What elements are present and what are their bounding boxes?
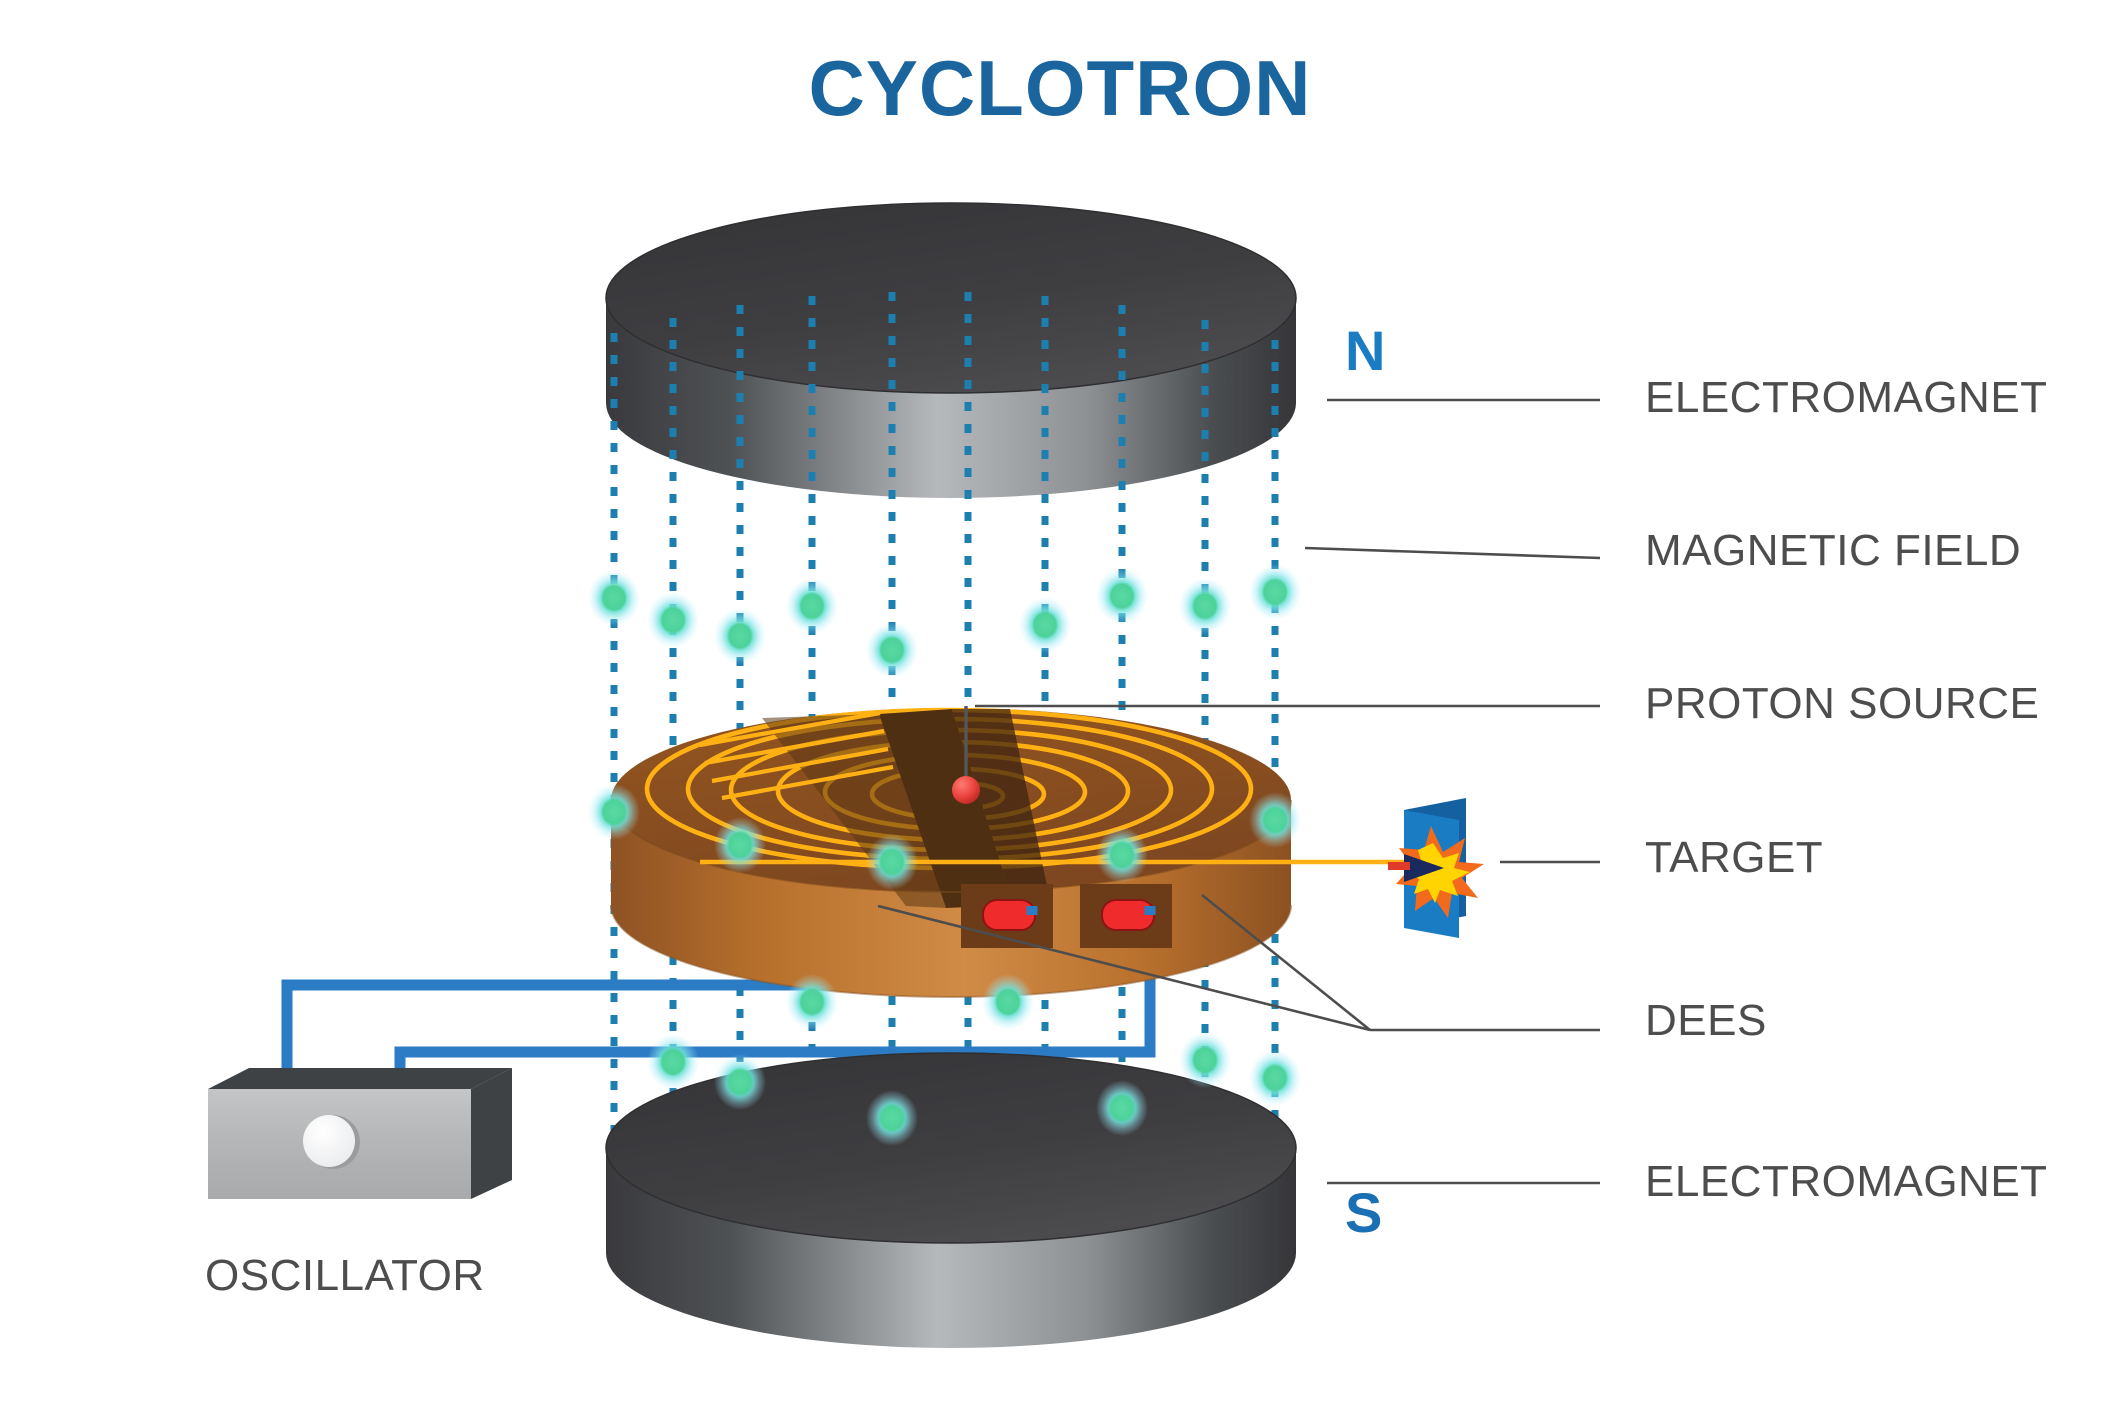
field-particle-13 (1096, 827, 1148, 883)
callout-label-magnetic-field: MAGNETIC FIELD (1645, 526, 2021, 575)
oscillator[interactable] (208, 1068, 512, 1199)
field-particle-7 (1096, 568, 1148, 624)
electromagnet-top (606, 203, 1296, 498)
page-title: CYCLOTRON (809, 44, 1312, 132)
callout-label-proton-source: PROTON SOURCE (1645, 679, 2039, 728)
field-particle-20 (1249, 1050, 1301, 1106)
callout-line-magnetic-field (1305, 548, 1600, 558)
callout-label-electromagnet-top: ELECTROMAGNET (1645, 373, 2048, 422)
cyclotron-illustration: CYCLOTRON (0, 0, 2121, 1414)
field-particle-19 (1179, 1032, 1231, 1088)
field-particle-5 (866, 622, 918, 678)
field-particle-2 (647, 592, 699, 648)
field-particle-11 (714, 817, 766, 873)
pole-label-north: N (1345, 319, 1385, 382)
callout-label-electromagnet-bottom: ELECTROMAGNET (1645, 1157, 2048, 1206)
pole-labels: NS (1345, 319, 1385, 1244)
field-particle-3 (714, 608, 766, 664)
callout-label-dees: DEES (1645, 996, 1767, 1045)
field-particle-1 (588, 570, 640, 626)
field-particle-18 (714, 1054, 766, 1110)
field-particle-21 (866, 1090, 918, 1146)
field-particle-15 (786, 974, 838, 1030)
field-particle-22 (1096, 1080, 1148, 1136)
oscillator-label: OSCILLATOR (205, 1251, 485, 1300)
electromagnet-bottom (606, 1053, 1296, 1348)
field-particle-8 (1179, 578, 1231, 634)
dees-assembly (611, 707, 1291, 997)
field-particle-6 (1019, 597, 1071, 653)
oscillator-dial[interactable] (303, 1115, 355, 1167)
field-particle-10 (588, 784, 640, 840)
field-particle-12 (866, 834, 918, 890)
field-particle-9 (1249, 564, 1301, 620)
field-particle-14 (1249, 792, 1301, 848)
pole-label-south: S (1345, 1181, 1382, 1244)
diagram-canvas: CYCLOTRON (0, 0, 2121, 1414)
field-particle-16 (982, 974, 1034, 1030)
field-particle-17 (647, 1034, 699, 1090)
target-plate (1388, 798, 1484, 938)
field-particle-4 (786, 578, 838, 634)
callout-label-target: TARGET (1645, 833, 1823, 882)
